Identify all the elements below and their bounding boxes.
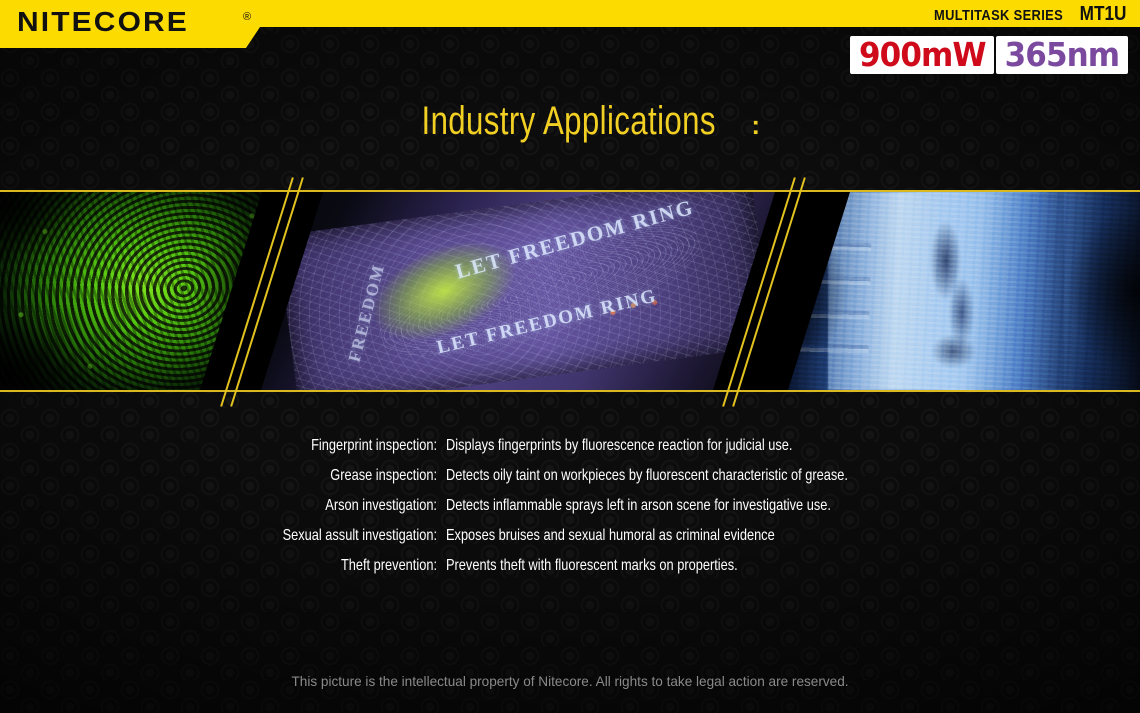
feature-label: Sexual assult investigation: xyxy=(87,527,437,545)
feature-label: Arson investigation: xyxy=(87,497,437,515)
feature-row: Sexual assult investigation: Exposes bru… xyxy=(0,527,1140,557)
gallery-divider-left xyxy=(190,192,330,390)
feature-description: Detects oily taint on workpieces by fluo… xyxy=(446,467,848,485)
feature-row: Fingerprint inspection: Displays fingerp… xyxy=(0,437,1140,467)
feature-description: Prevents theft with fluorescent marks on… xyxy=(446,557,738,575)
feature-list: Fingerprint inspection: Displays fingerp… xyxy=(0,437,1140,587)
feature-label: Theft prevention: xyxy=(87,557,437,575)
page-title: Industry Applications xyxy=(421,99,715,144)
brand-logo-wordmark: NITECORE xyxy=(17,8,189,36)
page-title-row: Industry Applications : xyxy=(0,99,1140,144)
feature-label: Grease inspection: xyxy=(87,467,437,485)
application-gallery: LET FREEDOM RING LET FREEDOM RING FREEDO… xyxy=(0,190,1140,392)
gallery-divider-right xyxy=(692,192,832,390)
power-value: 900mW xyxy=(859,38,986,71)
feature-description: Exposes bruises and sexual humoral as cr… xyxy=(446,527,775,545)
wavelength-value: 365nm xyxy=(1005,38,1119,71)
spec-badge: 900mW 365nm xyxy=(850,36,1128,74)
brand-logo-block: NITECORE xyxy=(0,0,278,48)
feature-row: Grease inspection: Detects oily taint on… xyxy=(0,467,1140,497)
series-label: MULTITASK SERIES xyxy=(934,7,1063,24)
series-identifier: MULTITASK SERIES MT1U xyxy=(913,3,1126,26)
feature-description: Displays fingerprints by fluorescence re… xyxy=(446,437,792,455)
model-name: MT1U xyxy=(1079,3,1126,26)
wavelength-spec: 365nm xyxy=(996,36,1128,74)
feature-label: Fingerprint inspection: xyxy=(87,437,437,455)
power-spec: 900mW xyxy=(850,36,995,74)
page-title-colon: : xyxy=(751,110,760,141)
registered-trademark-icon: ® xyxy=(243,11,251,23)
copyright-notice: This picture is the intellectual propert… xyxy=(17,673,1123,689)
feature-row: Arson investigation: Detects inflammable… xyxy=(0,497,1140,527)
feature-description: Detects inflammable sprays left in arson… xyxy=(446,497,831,515)
feature-row: Theft prevention: Prevents theft with fl… xyxy=(0,557,1140,587)
